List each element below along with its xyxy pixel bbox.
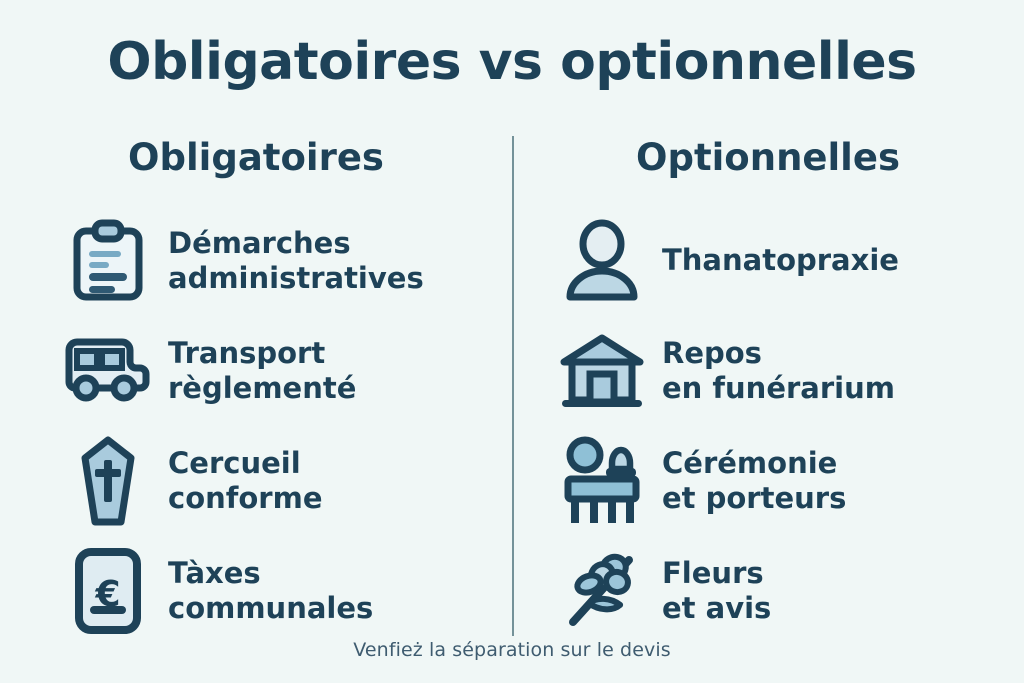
footer-note: Venfież la séparation sur le devis	[0, 639, 1024, 661]
column-heading-obligatoires: Obligatoires	[0, 138, 512, 179]
list-item-label: Repos en funérarium	[648, 336, 895, 407]
list-item-label: Cérémonie et porteurs	[648, 446, 846, 517]
infographic-poster: Obligatoires vs optionnelles Obligatoire…	[0, 0, 1024, 683]
list-item: € Tàxes communales	[62, 536, 517, 646]
person-bust-icon	[556, 215, 648, 307]
list-item-label: Transport règlementé	[154, 336, 356, 407]
obligatoires-list: Démarches administratives Transport règl…	[62, 206, 517, 646]
list-item: Fleurs et avis	[556, 536, 1011, 646]
euro-document-icon: €	[62, 545, 154, 637]
list-item: Thanatopraxie	[556, 206, 1011, 316]
list-item: Transport règlementé	[62, 316, 517, 426]
clipboard-icon	[62, 215, 154, 307]
list-item: Cercueil conforme	[62, 426, 517, 536]
coffin-icon	[62, 435, 154, 527]
list-item: Démarches administratives	[62, 206, 517, 316]
ceremony-table-icon	[556, 435, 648, 527]
building-icon	[556, 325, 648, 417]
list-item: Repos en funérarium	[556, 316, 1011, 426]
list-item-label: Cercueil conforme	[154, 446, 323, 517]
list-item-label: Thanatopraxie	[648, 243, 899, 278]
list-item-label: Tàxes communales	[154, 556, 373, 627]
list-item-label: Démarches administratives	[154, 226, 424, 297]
flower-icon	[556, 545, 648, 637]
optionnelles-list: Thanatopraxie Repos en funérarium	[556, 206, 1011, 646]
list-item-label: Fleurs et avis	[648, 556, 771, 627]
list-item: Cérémonie et porteurs	[556, 426, 1011, 536]
van-icon	[62, 325, 154, 417]
page-title: Obligatoires vs optionnelles	[0, 34, 1024, 90]
column-heading-optionnelles: Optionnelles	[512, 138, 1024, 179]
